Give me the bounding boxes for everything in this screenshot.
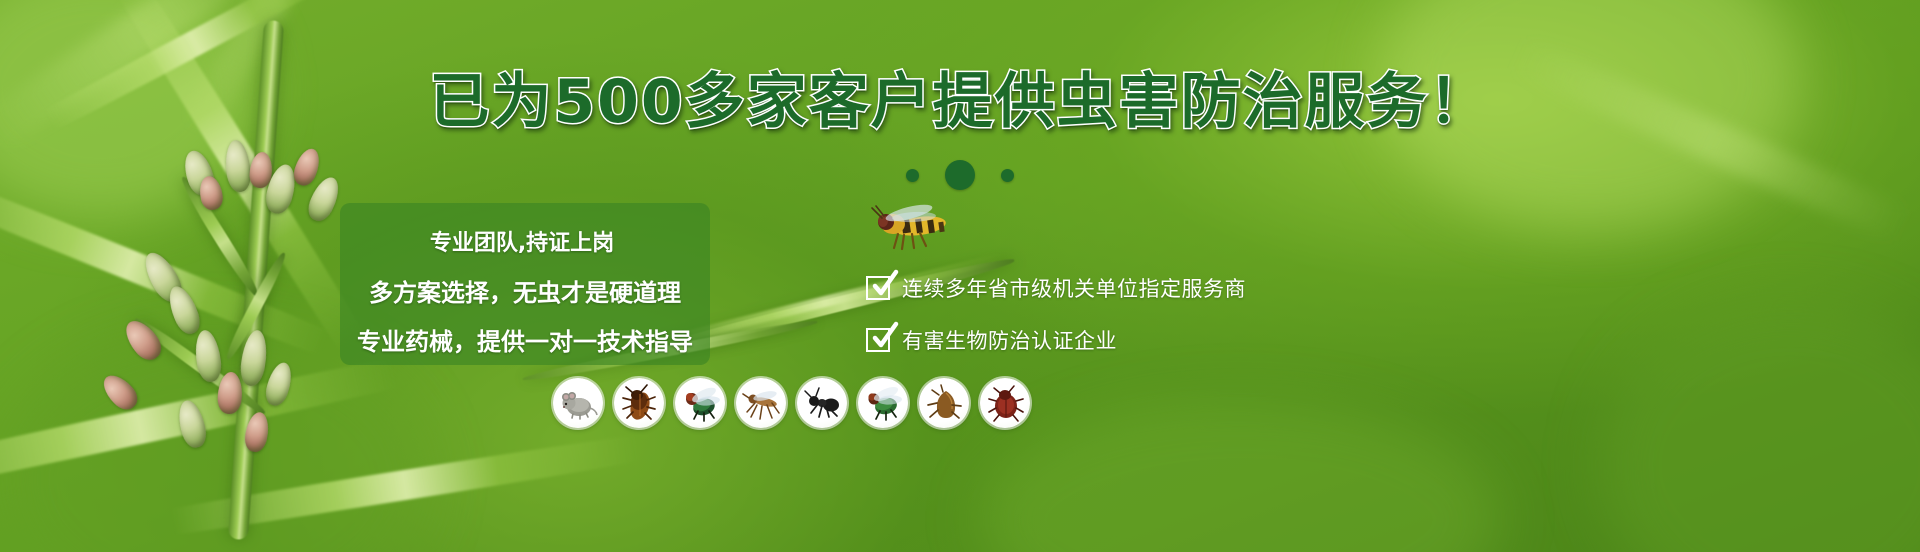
checkbox-checked-icon <box>866 276 890 300</box>
checklist-item-label: 有害生物防治认证企业 <box>902 325 1117 355</box>
feature-line-2: 多方案选择，无虫才是硬道理 <box>340 273 710 308</box>
bokeh-blob <box>1600 300 1920 552</box>
hoverfly-photo <box>846 196 956 256</box>
greenfly-icon[interactable] <box>858 378 908 428</box>
feature-line-1: 专业团队,持证上岗 <box>340 225 710 257</box>
ant-icon[interactable] <box>797 378 847 428</box>
flea-icon[interactable] <box>919 378 969 428</box>
headline-container: 已为500多家客户提供虫害防治服务！ 已为500多家客户提供虫害防治服务！ <box>0 72 1920 132</box>
cockroach-icon[interactable] <box>614 378 664 428</box>
checkbox-checked-icon <box>866 328 890 352</box>
feature-highlight-box: 专业团队,持证上岗 多方案选择，无虫才是硬道理 专业药械，提供一对一技术指导 <box>340 203 710 365</box>
bedbug-icon[interactable] <box>980 378 1030 428</box>
mosquito-icon[interactable] <box>736 378 786 428</box>
bokeh-blob <box>980 400 1500 552</box>
blowfly-icon[interactable] <box>675 378 725 428</box>
banner-headline: 已为500多家客户提供虫害防治服务！ <box>429 72 1490 132</box>
dot-small-right-icon <box>1001 169 1014 182</box>
dot-small-left-icon <box>906 169 919 182</box>
mouse-icon[interactable] <box>553 378 603 428</box>
certification-checklist: 连续多年省市级机关单位指定服务商 有害生物防治认证企业 <box>866 273 1246 377</box>
feature-line-3: 专业药械，提供一对一技术指导 <box>340 322 710 357</box>
pest-control-hero-banner: 已为500多家客户提供虫害防治服务！ 已为500多家客户提供虫害防治服务！ 专业… <box>0 0 1920 552</box>
checklist-item: 连续多年省市级机关单位指定服务商 <box>866 273 1246 303</box>
checklist-item-label: 连续多年省市级机关单位指定服务商 <box>902 273 1246 303</box>
decorative-dots <box>0 160 1920 190</box>
dot-large-center-icon <box>945 160 975 190</box>
checklist-item: 有害生物防治认证企业 <box>866 325 1246 355</box>
pest-icon-row <box>553 378 1030 428</box>
